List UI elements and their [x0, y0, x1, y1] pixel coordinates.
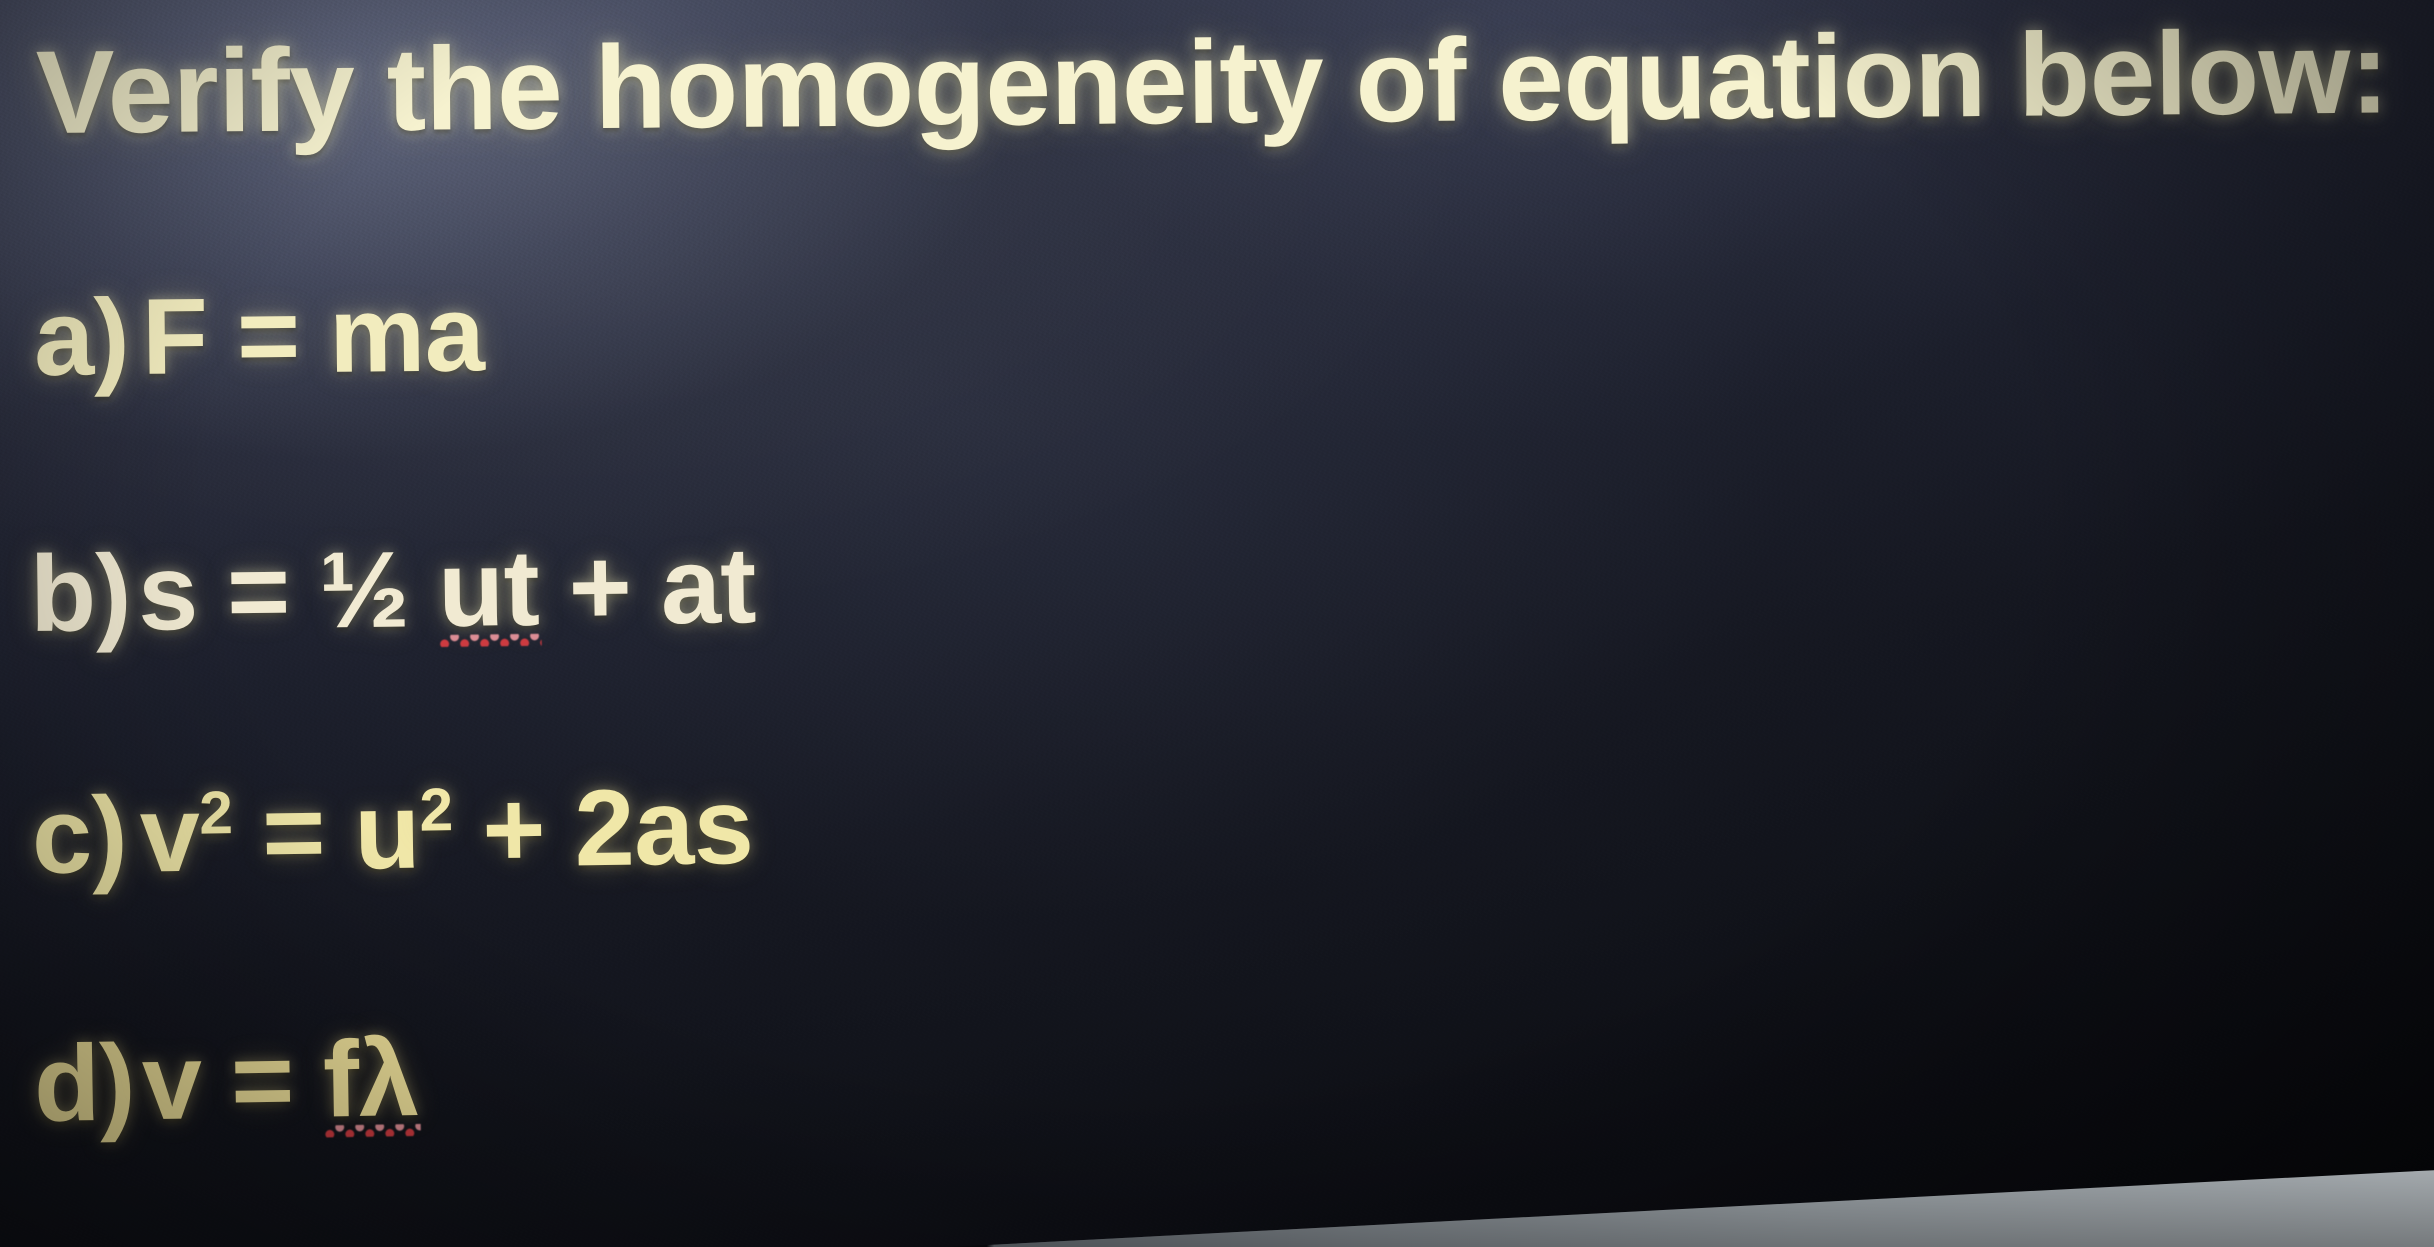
- equation-c-tail: + 2as: [452, 765, 754, 890]
- equation-a-rhs: ma: [328, 272, 484, 395]
- item-marker-d: d): [33, 1028, 143, 1138]
- equation-d-relation: =: [230, 1019, 294, 1141]
- equation-item-d: d)v = fλ: [33, 1024, 419, 1138]
- equation-b-tail: + at: [538, 524, 756, 648]
- equation-c-relation: =: [261, 771, 325, 893]
- item-marker-a: a): [33, 283, 142, 392]
- equation-a-relation: =: [236, 274, 300, 396]
- equation-d-lhs: v: [141, 1020, 202, 1142]
- equation-b-coefficient: ½: [318, 528, 439, 650]
- equation-body-d: v = fλ: [141, 1024, 419, 1136]
- equation-c-rhs-exponent: 2: [419, 775, 453, 843]
- equation-item-a: a)F = ma: [33, 279, 484, 392]
- item-marker-b: b): [29, 539, 138, 648]
- equation-a-lhs: F: [141, 275, 208, 397]
- equation-body-a: F = ma: [141, 279, 484, 391]
- equation-b-lhs: s: [137, 531, 198, 653]
- equation-c-lhs-exponent: 2: [199, 778, 233, 846]
- equation-item-c: c)v2 = u2 + 2as: [31, 772, 754, 890]
- equation-body-c: v2 = u2 + 2as: [139, 772, 754, 889]
- item-marker-c: c): [31, 780, 140, 889]
- equation-b-relation: =: [226, 530, 290, 652]
- equation-item-b: b)s = ½ ut + at: [29, 531, 756, 648]
- spellcheck-underlined-ut: ut: [438, 534, 540, 643]
- slide-content: Verify the homogeneity of equation below…: [0, 0, 2434, 1247]
- equation-c-rhs-base: u: [353, 770, 420, 892]
- spellcheck-underlined-flambda: fλ: [322, 1024, 419, 1133]
- equation-body-b: s = ½ ut + at: [137, 531, 756, 647]
- slide-title: Verify the homogeneity of equation below…: [35, 13, 2389, 152]
- equation-c-lhs-base: v: [139, 773, 200, 895]
- slide-photo-stage: Verify the homogeneity of equation below…: [0, 0, 2434, 1247]
